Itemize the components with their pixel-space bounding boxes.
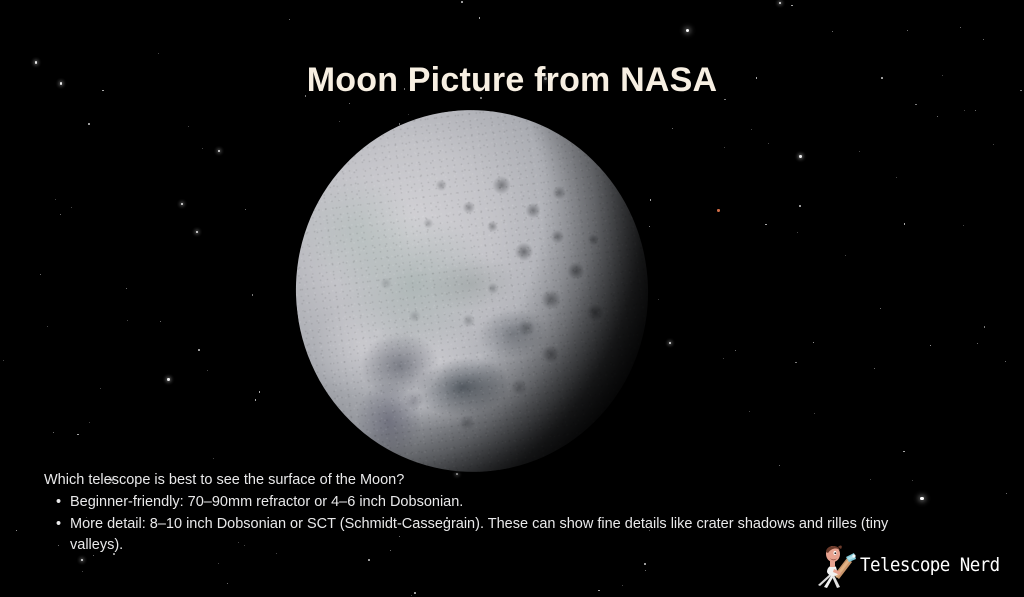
star bbox=[984, 326, 985, 327]
star bbox=[751, 129, 752, 130]
star bbox=[77, 434, 79, 436]
star bbox=[963, 225, 964, 226]
star bbox=[768, 143, 769, 144]
star bbox=[845, 255, 846, 256]
star bbox=[227, 583, 228, 584]
star bbox=[127, 320, 128, 321]
star bbox=[89, 422, 90, 423]
star bbox=[799, 155, 801, 157]
star bbox=[797, 232, 798, 233]
body-copy: Which telescope is best to see the surfa… bbox=[44, 470, 924, 557]
star bbox=[779, 2, 781, 4]
page-title: Moon Picture from NASA bbox=[0, 61, 1024, 100]
star bbox=[686, 29, 689, 32]
star bbox=[160, 321, 161, 322]
star bbox=[915, 104, 916, 105]
star bbox=[259, 391, 261, 393]
star bbox=[255, 399, 257, 401]
star bbox=[1006, 493, 1007, 494]
star bbox=[735, 350, 736, 351]
star bbox=[213, 458, 214, 459]
star bbox=[88, 123, 90, 125]
telescope-recommendation-list: • Beginner-friendly: 70–90mm refractor o… bbox=[44, 492, 924, 556]
list-item: • More detail: 8–10 inch Dobsonian or SC… bbox=[44, 514, 924, 556]
star bbox=[649, 226, 651, 228]
star bbox=[55, 199, 56, 200]
bullet-icon: • bbox=[56, 492, 61, 513]
star bbox=[349, 103, 350, 104]
star bbox=[81, 559, 83, 561]
star bbox=[598, 590, 600, 592]
star bbox=[411, 595, 412, 596]
list-item: • Beginner-friendly: 70–90mm refractor o… bbox=[44, 492, 924, 513]
star bbox=[100, 388, 101, 389]
star bbox=[650, 199, 652, 201]
star bbox=[832, 31, 833, 32]
star bbox=[245, 209, 246, 210]
star bbox=[779, 465, 780, 466]
star bbox=[644, 563, 646, 565]
star bbox=[960, 27, 961, 28]
star bbox=[930, 345, 932, 347]
star bbox=[47, 326, 48, 327]
star bbox=[723, 358, 724, 359]
star bbox=[983, 39, 984, 40]
star bbox=[3, 360, 4, 361]
star bbox=[188, 126, 189, 127]
star bbox=[749, 411, 750, 412]
star bbox=[880, 308, 881, 309]
star bbox=[765, 224, 767, 226]
moon-texture-layer bbox=[275, 90, 668, 492]
poster-canvas: Moon Picture from NASA Which telescope i… bbox=[0, 0, 1024, 597]
star bbox=[724, 147, 725, 148]
star bbox=[903, 451, 905, 453]
star bbox=[60, 214, 61, 215]
star bbox=[414, 592, 416, 594]
brand-logo[interactable]: Telescope Nerd bbox=[814, 541, 1012, 589]
star bbox=[622, 585, 623, 586]
star-accent-red bbox=[717, 209, 720, 212]
copy-question: Which telescope is best to see the surfa… bbox=[44, 470, 924, 491]
star bbox=[795, 362, 796, 363]
brand-name: Telescope Nerd bbox=[860, 554, 1000, 576]
star bbox=[813, 342, 815, 344]
star bbox=[964, 110, 965, 111]
astronomer-with-telescope-mascot-icon bbox=[814, 541, 856, 589]
moon-image bbox=[296, 110, 648, 472]
star bbox=[82, 571, 83, 572]
star bbox=[975, 110, 976, 111]
star bbox=[874, 368, 875, 369]
star bbox=[368, 559, 370, 561]
star bbox=[672, 128, 673, 129]
star bbox=[937, 116, 938, 117]
star bbox=[218, 563, 219, 564]
star bbox=[461, 1, 463, 3]
star bbox=[669, 342, 671, 344]
star bbox=[645, 570, 646, 571]
list-item-label: Beginner-friendly: 70–90mm refractor or … bbox=[70, 494, 463, 510]
star bbox=[16, 530, 18, 532]
star bbox=[40, 274, 41, 275]
star bbox=[814, 413, 815, 414]
bullet-icon: • bbox=[56, 514, 61, 535]
star bbox=[1005, 361, 1006, 362]
star bbox=[289, 19, 290, 20]
star bbox=[904, 223, 906, 225]
star bbox=[158, 53, 159, 54]
star bbox=[181, 203, 183, 205]
star bbox=[791, 5, 793, 7]
star bbox=[993, 144, 994, 145]
star bbox=[252, 294, 253, 295]
star bbox=[218, 150, 220, 152]
star bbox=[479, 17, 481, 19]
star bbox=[167, 378, 169, 380]
star bbox=[207, 370, 208, 371]
star bbox=[799, 205, 801, 207]
star bbox=[859, 151, 860, 152]
list-item-label: More detail: 8–10 inch Dobsonian or SCT … bbox=[70, 516, 888, 553]
star bbox=[196, 231, 198, 233]
star bbox=[977, 343, 978, 344]
star bbox=[198, 349, 200, 351]
star bbox=[202, 148, 203, 149]
star bbox=[126, 288, 127, 289]
star bbox=[658, 299, 659, 300]
star bbox=[907, 30, 908, 31]
star bbox=[53, 432, 54, 433]
star bbox=[896, 177, 897, 178]
star bbox=[71, 207, 72, 208]
